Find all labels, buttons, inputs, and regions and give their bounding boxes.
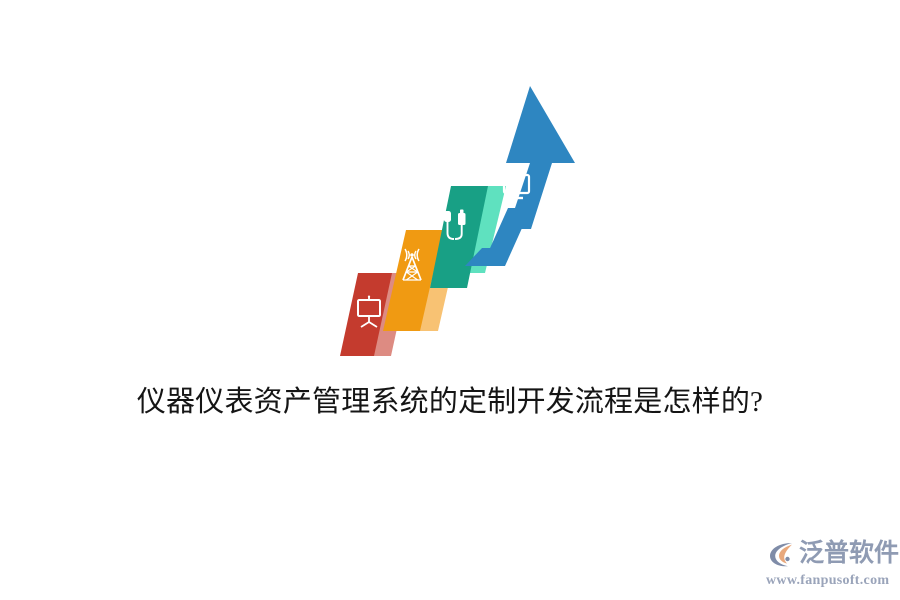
infographic-svg xyxy=(330,78,580,363)
ascending-arrow-steps-infographic xyxy=(330,78,580,363)
fanpu-c-arc-logo-icon xyxy=(766,539,796,569)
step-segment-3-teal xyxy=(430,186,506,288)
brand-watermark: 泛普软件 www.fanpusoft.com xyxy=(766,536,894,590)
brand-name: 泛普软件 xyxy=(799,539,899,569)
brand-url: www.fanpusoft.com xyxy=(766,572,894,589)
up-arrow-shape xyxy=(506,86,575,229)
page-title: 仪器仪表资产管理系统的定制开发流程是怎样的? xyxy=(0,382,900,422)
brand-watermark-row: 泛普软件 xyxy=(766,536,894,572)
page-root: 仪器仪表资产管理系统的定制开发流程是怎样的? 泛普软件 www.fanpusof… xyxy=(0,0,900,600)
